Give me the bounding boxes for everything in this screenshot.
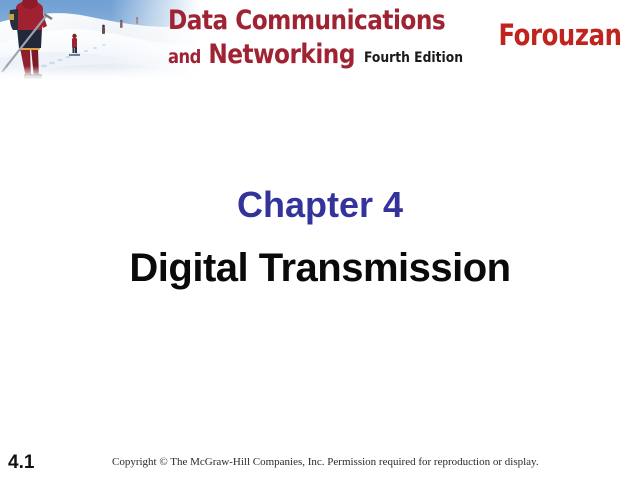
book-title-and: and — [168, 46, 201, 68]
book-title-line-1: Data Communications — [168, 7, 435, 34]
header-banner: Data Communications and Networking Fourt… — [0, 0, 640, 80]
copyright-notice: Copyright © The McGraw-Hill Companies, I… — [112, 456, 539, 468]
author-name: Forouzan — [499, 18, 622, 52]
book-title-networking: Networking — [208, 39, 355, 70]
chapter-title-heading: Digital Transmission — [0, 246, 640, 291]
slide: Data Communications and Networking Fourt… — [0, 0, 640, 480]
edition-label: Fourth Edition — [364, 50, 463, 66]
slide-number: 4.1 — [8, 452, 34, 474]
chapter-number-heading: Chapter 4 — [0, 184, 640, 226]
